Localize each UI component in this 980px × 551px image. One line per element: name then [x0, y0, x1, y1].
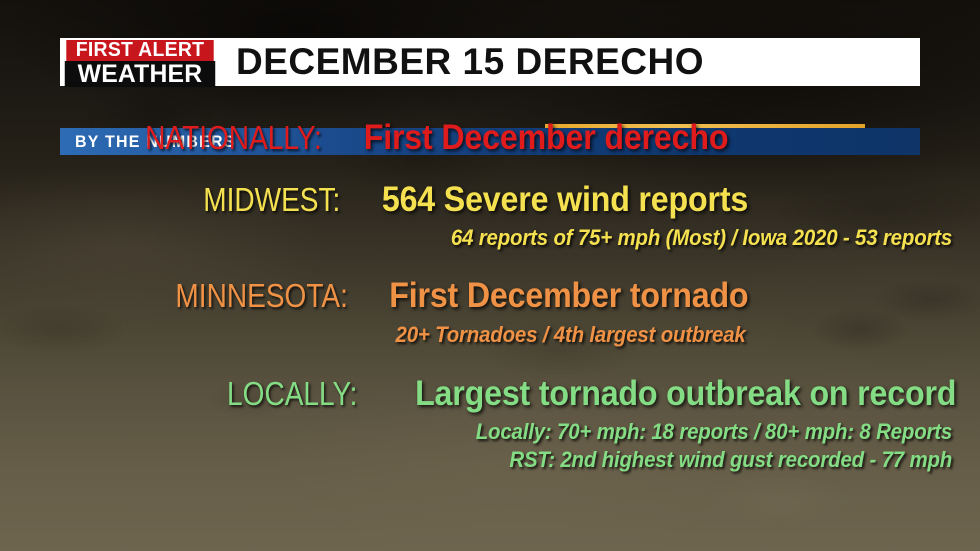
stat-value: First December tornado: [389, 276, 748, 316]
stat-row-nationally: NATIONALLY: First December derecho: [0, 118, 980, 158]
stat-row-locally: LOCALLY: Largest tornado outbreak on rec…: [0, 374, 980, 473]
stat-subline: 20+ Tornadoes / 4th largest outbreak: [69, 322, 980, 348]
stat-value: Largest tornado outbreak on record: [415, 374, 956, 414]
stat-subline: 64 reports of 75+ mph (Most) / Iowa 2020…: [69, 225, 980, 251]
stat-label: MINNESOTA:: [175, 277, 347, 315]
stat-label: LOCALLY:: [227, 375, 357, 413]
stat-subline: Locally: 70+ mph: 18 reports / 80+ mph: …: [69, 419, 980, 445]
logo-weather-text: WEATHER: [65, 61, 215, 87]
stat-label: NATIONALLY:: [145, 119, 322, 157]
stat-main-line: LOCALLY: Largest tornado outbreak on rec…: [0, 374, 980, 414]
stats-list: NATIONALLY: First December derecho MIDWE…: [0, 118, 980, 473]
first-alert-weather-logo: FIRST ALERT WEATHER: [64, 40, 216, 87]
graphic-header: DECEMBER 15 DERECHO BY THE NUMBERS FIRST…: [0, 38, 980, 86]
stat-value: 564 Severe wind reports: [382, 180, 748, 220]
stat-subline: RST: 2nd highest wind gust recorded - 77…: [69, 447, 980, 473]
stat-label: MIDWEST:: [203, 181, 340, 219]
stat-main-line: MIDWEST: 564 Severe wind reports: [0, 180, 980, 220]
stat-row-minnesota: MINNESOTA: First December tornado 20+ To…: [0, 276, 980, 348]
page-title: DECEMBER 15 DERECHO: [236, 41, 704, 83]
stat-main-line: NATIONALLY: First December derecho: [0, 118, 980, 158]
logo-first-alert-text: FIRST ALERT: [66, 40, 213, 61]
stat-value: First December derecho: [363, 118, 728, 158]
stat-main-line: MINNESOTA: First December tornado: [0, 276, 980, 316]
stat-row-midwest: MIDWEST: 564 Severe wind reports 64 repo…: [0, 180, 980, 251]
